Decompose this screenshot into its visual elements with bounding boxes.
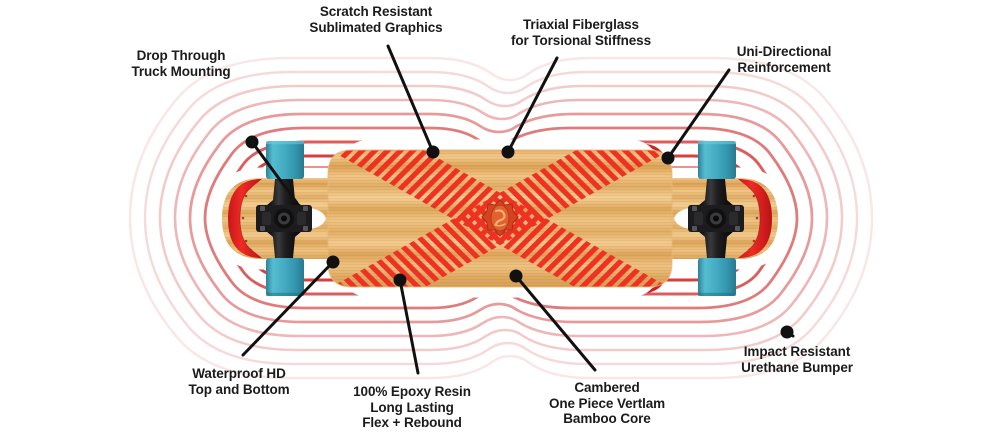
diagram-stage: Drop Through Truck MountingScratch Resis… xyxy=(0,0,1000,437)
leader-dot-triaxial-fiberglass-torsional-stiffness xyxy=(503,147,513,157)
leader-dot-drop-through-truck-mounting xyxy=(247,137,257,147)
leader-dot-waterproof-hd-top-and-bottom xyxy=(328,257,338,267)
bamboo-deck xyxy=(326,148,674,306)
callout-label-triaxial-fiberglass-torsional-stiffness: Triaxial Fiberglass for Torsional Stiffn… xyxy=(511,17,651,48)
callout-label-cambered-one-piece-vertlam-bamboo-core: Cambered One Piece Vertlam Bamboo Core xyxy=(549,380,665,427)
callout-label-scratch-resistant-sublimated-graphics: Scratch Resistant Sublimated Graphics xyxy=(309,4,442,35)
leader-dot-cambered-one-piece-vertlam-bamboo-core xyxy=(511,271,521,281)
rear-truck-assembly xyxy=(674,141,744,296)
wheel-rear-bottom xyxy=(698,258,736,296)
wheel-rear-top xyxy=(698,141,736,179)
callout-label-waterproof-hd-top-and-bottom: Waterproof HD Top and Bottom xyxy=(188,366,289,397)
callout-label-impact-resistant-urethane-bumper: Impact Resistant Urethane Bumper xyxy=(741,344,853,375)
wheel-front-bottom xyxy=(266,258,304,296)
callout-label-drop-through-truck-mounting: Drop Through Truck Mounting xyxy=(131,48,230,79)
leader-dot-epoxy-resin-long-lasting-flex-rebound xyxy=(395,275,405,285)
wheel-front-top xyxy=(266,141,304,179)
front-truck-assembly xyxy=(256,141,326,296)
leader-dot-uni-directional-reinforcement xyxy=(663,153,673,163)
leader-dot-scratch-resistant-sublimated-graphics xyxy=(428,147,438,157)
leader-dot-impact-resistant-urethane-bumper xyxy=(782,327,792,337)
callout-label-epoxy-resin-long-lasting-flex-rebound: 100% Epoxy Resin Long Lasting Flex + Reb… xyxy=(353,384,471,431)
callout-label-uni-directional-reinforcement: Uni-Directional Reinforcement xyxy=(737,44,832,75)
